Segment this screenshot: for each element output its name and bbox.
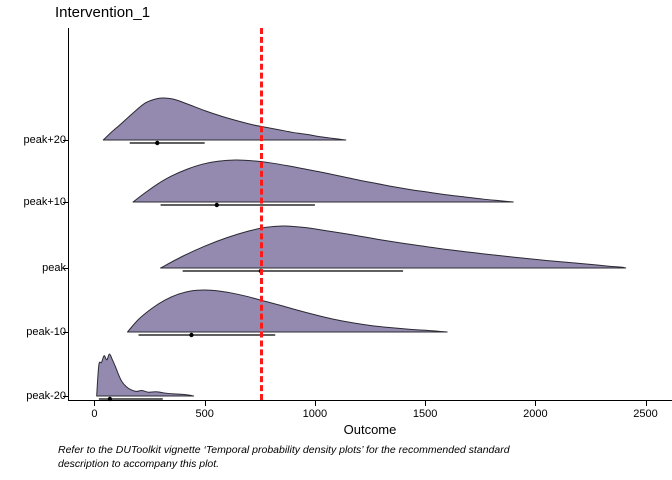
x-axis-tick-label: 2000 <box>523 408 547 420</box>
y-axis-category-label: peak-20 <box>26 390 66 402</box>
x-axis-tick <box>425 401 426 406</box>
density-ridge <box>103 98 345 145</box>
density-area <box>97 354 194 396</box>
x-axis-tick-label: 2500 <box>633 408 657 420</box>
density-area <box>133 160 513 202</box>
density-ridge <box>128 290 448 337</box>
x-axis-tick <box>535 401 536 406</box>
x-axis-tick <box>94 401 95 406</box>
median-point <box>108 397 112 401</box>
density-ridge <box>133 160 513 207</box>
density-area <box>161 226 626 268</box>
median-point <box>189 333 193 337</box>
x-axis-tick-label: 1500 <box>413 408 437 420</box>
page-title: Intervention_1 <box>55 4 150 21</box>
density-ridge <box>97 354 194 401</box>
reference-line <box>260 28 263 400</box>
median-point <box>155 141 159 145</box>
x-axis-tick <box>315 401 316 406</box>
figure-caption: Refer to the DUToolkit vignette ‘Tempora… <box>58 443 528 471</box>
y-axis-category-label: peak-10 <box>26 326 66 338</box>
chart-figure: Intervention_1 Outcome 05001000150020002… <box>0 0 672 480</box>
density-area <box>128 290 448 332</box>
x-axis-title: Outcome <box>68 422 672 437</box>
x-axis-tick-label: 0 <box>91 408 97 420</box>
x-axis-tick-label: 1000 <box>303 408 327 420</box>
y-axis-category-label: peak <box>42 262 66 274</box>
x-axis-tick <box>205 401 206 406</box>
x-axis-line <box>68 400 672 401</box>
y-axis-category-label: peak+20 <box>23 134 66 146</box>
y-axis-category-label: peak+10 <box>23 196 66 208</box>
x-axis-tick-label: 500 <box>195 408 213 420</box>
ridgeline-densities <box>68 28 672 400</box>
x-axis-tick <box>646 401 647 406</box>
plot-panel: Outcome 05001000150020002500peak+20peak+… <box>68 28 672 400</box>
density-ridge <box>161 226 626 273</box>
density-area <box>103 98 345 140</box>
median-point <box>215 203 219 207</box>
